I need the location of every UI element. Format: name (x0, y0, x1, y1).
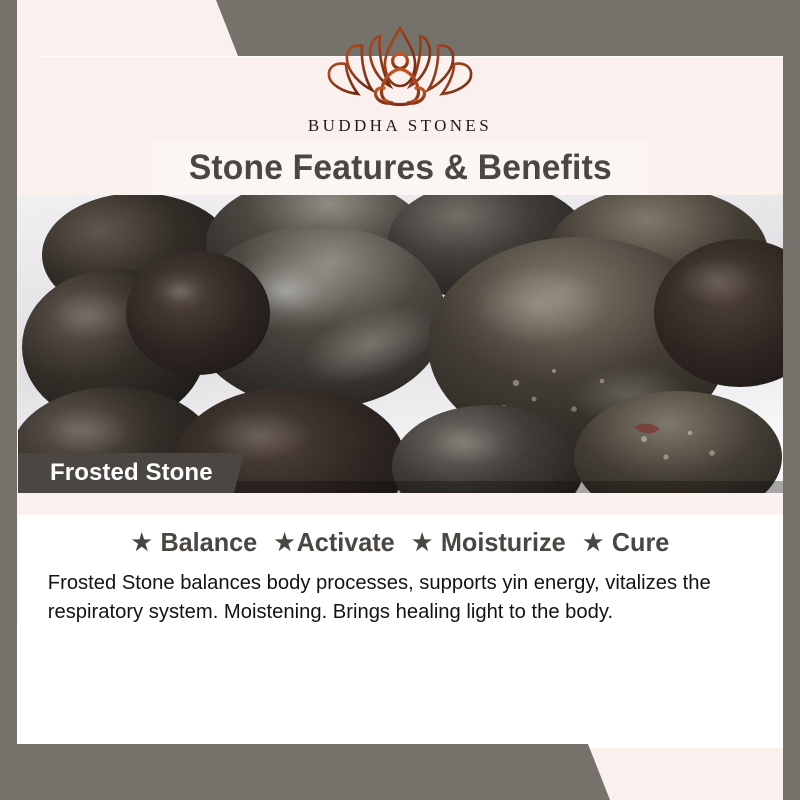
star-icon: ★ (132, 529, 152, 556)
brand-wordmark: BUDDHA STONES (0, 116, 800, 136)
stone-photo-illustration (18, 195, 783, 493)
brand-logo: BUDDHA STONES (0, 22, 800, 136)
frosted-stone-photo (18, 195, 783, 493)
title-band: Stone Features & Benefits (153, 141, 648, 195)
poster-root: BUDDHA STONES Stone Features & Benefits (0, 0, 800, 800)
star-icon: ★ (275, 529, 295, 556)
photo-caption-band: Frosted Stone (18, 453, 244, 493)
star-icon: ★ (412, 529, 432, 556)
page-title: Stone Features & Benefits (189, 148, 612, 188)
benefits-list: ★Balance★Activate★Moisturize★Cure (43, 527, 758, 558)
star-icon: ★ (583, 529, 603, 556)
photo-caption-label: Frosted Stone (18, 459, 213, 487)
benefit-item-activate: Activate (297, 527, 395, 557)
lotus-meditation-figure-icon (316, 22, 484, 114)
content-section: ★Balance★Activate★Moisturize★Cure Froste… (18, 493, 783, 653)
benefit-item-balance: Balance (160, 527, 257, 557)
description-text: Frosted Stone balances body processes, s… (32, 568, 758, 627)
content-top-strip (18, 493, 783, 515)
benefit-item-moisturize: Moisturize (441, 527, 566, 557)
benefit-item-cure: Cure (612, 527, 669, 557)
